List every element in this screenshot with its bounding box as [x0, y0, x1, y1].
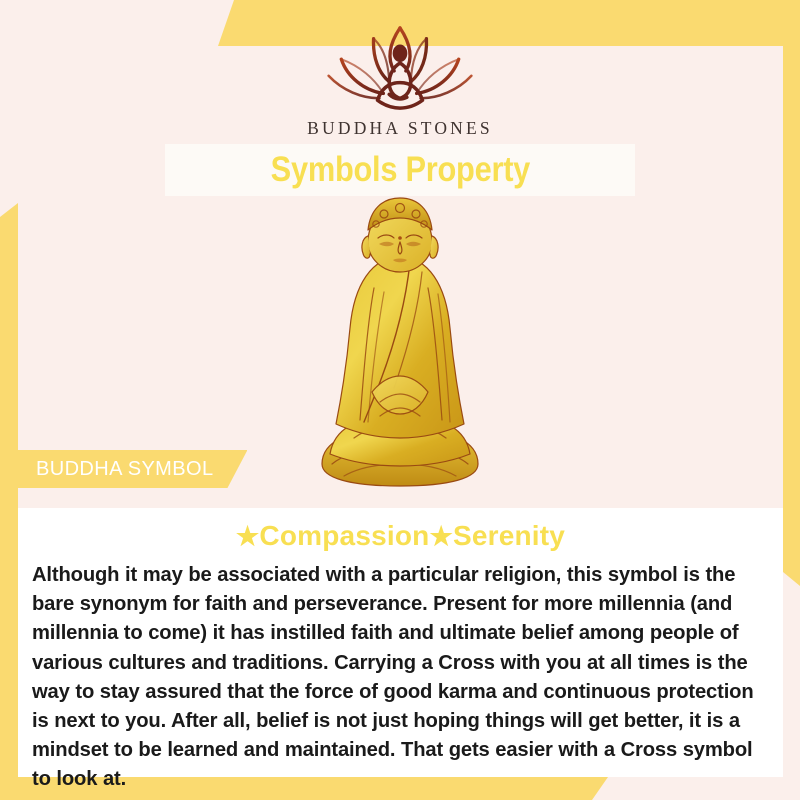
star-icon-two: ★: [429, 521, 453, 551]
brand-lockup: BUDDHA STONES: [0, 22, 800, 139]
poster-root: BUDDHA STONES Symbols Property: [0, 0, 800, 800]
seated-buddha-statue-image: [310, 196, 490, 496]
star-icon-one: ★: [236, 521, 260, 551]
brand-name: BUDDHA STONES: [0, 118, 800, 139]
lotus-meditation-icon: [315, 22, 485, 112]
subtitle-word-serenity: Serenity: [453, 520, 565, 551]
title-band: Symbols Property: [165, 144, 635, 196]
subtitle-word-compassion: Compassion: [259, 520, 429, 551]
section-subtitle: ★Compassion★Serenity: [18, 508, 783, 552]
page-title: Symbols Property: [270, 150, 529, 190]
section-ribbon-label: BUDDHA SYMBOL: [36, 458, 213, 481]
content-card: ★Compassion★Serenity Although it may be …: [18, 508, 783, 777]
section-body-text: Although it may be associated with a par…: [18, 552, 783, 795]
section-ribbon: BUDDHA SYMBOL: [18, 450, 247, 488]
